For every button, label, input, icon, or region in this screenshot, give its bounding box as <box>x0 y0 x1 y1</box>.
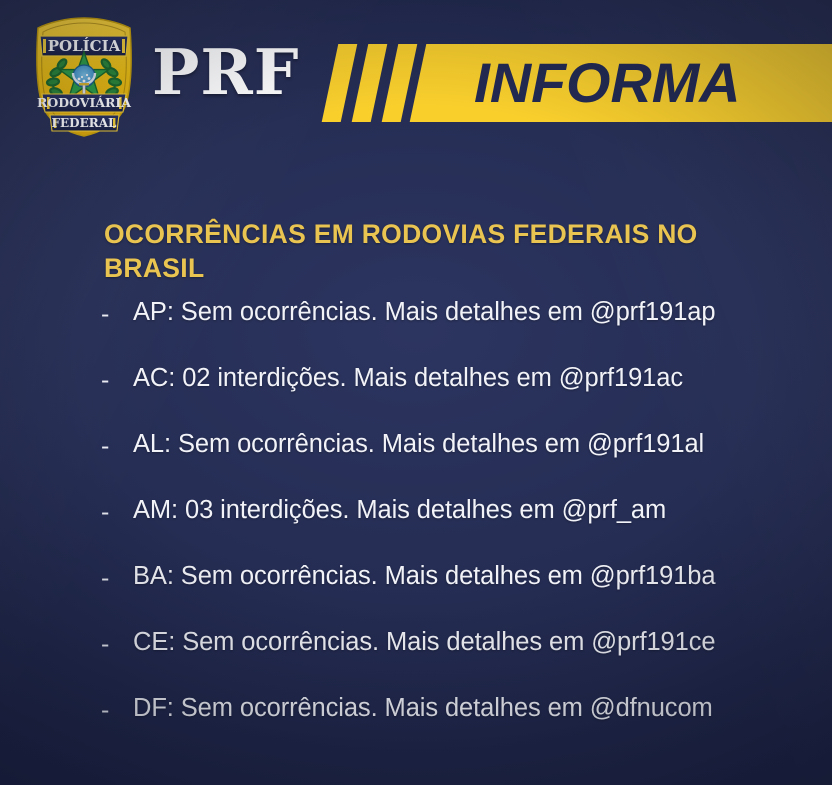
bullet-dash-icon: - <box>101 368 123 393</box>
list-item: -DF: Sem ocorrências. Mais detalhes em @… <box>0 694 832 760</box>
bullet-dash-icon: - <box>101 302 123 327</box>
occurrence-text: AM: 03 interdições. Mais detalhes em @pr… <box>133 496 666 525</box>
occurrence-text: CE: Sem ocorrências. Mais detalhes em @p… <box>133 628 715 657</box>
occurrence-text: AC: 02 interdições. Mais detalhes em @pr… <box>133 364 683 393</box>
svg-text:FEDERAL: FEDERAL <box>52 116 118 130</box>
prf-badge-icon: POLÍCIA <box>26 16 142 138</box>
banner-stripe-2 <box>352 44 388 122</box>
svg-text:RODOVIÁRIA: RODOVIÁRIA <box>37 95 131 110</box>
list-item: -CE: Sem ocorrências. Mais detalhes em @… <box>0 628 832 694</box>
occurrence-list: -AP: Sem ocorrências. Mais detalhes em @… <box>0 298 832 760</box>
list-item: -BA: Sem ocorrências. Mais detalhes em @… <box>0 562 832 628</box>
occurrence-text: BA: Sem ocorrências. Mais detalhes em @p… <box>133 562 715 591</box>
list-item: -AL: Sem ocorrências. Mais detalhes em @… <box>0 430 832 496</box>
bullet-dash-icon: - <box>101 500 123 525</box>
banner-stripe-1 <box>322 44 358 122</box>
informa-banner-label: INFORMA <box>474 47 832 119</box>
occurrence-text: AP: Sem ocorrências. Mais detalhes em @p… <box>133 298 715 327</box>
list-item: -AP: Sem ocorrências. Mais detalhes em @… <box>0 298 832 364</box>
bullet-dash-icon: - <box>101 434 123 459</box>
occurrence-text: AL: Sem ocorrências. Mais detalhes em @p… <box>133 430 704 459</box>
bullet-dash-icon: - <box>101 566 123 591</box>
prf-wordmark: PRF <box>152 41 299 104</box>
occurrence-text: DF: Sem ocorrências. Mais detalhes em @d… <box>133 694 713 723</box>
page-title: OCORRÊNCIAS EM RODOVIAS FEDERAIS NO BRAS… <box>104 218 784 285</box>
prf-informa-poster: POLÍCIA <box>0 0 832 785</box>
bullet-dash-icon: - <box>101 632 123 657</box>
list-item: -AC: 02 interdições. Mais detalhes em @p… <box>0 364 832 430</box>
poster-header: POLÍCIA <box>0 0 832 150</box>
list-item: -AM: 03 interdições. Mais detalhes em @p… <box>0 496 832 562</box>
bullet-dash-icon: - <box>101 698 123 723</box>
